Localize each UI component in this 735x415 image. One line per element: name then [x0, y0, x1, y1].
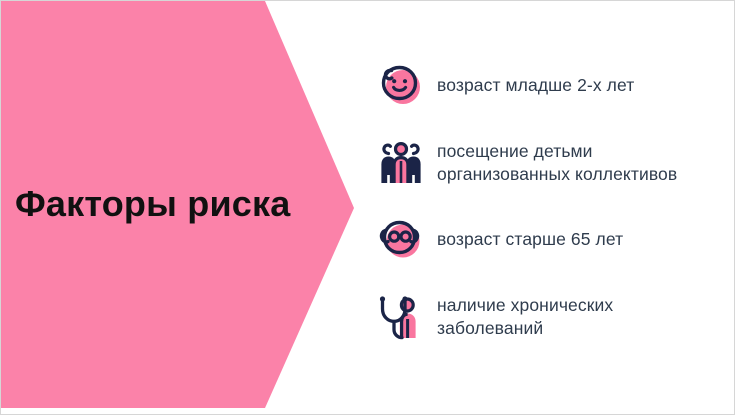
page-title: Факторы риска [15, 182, 345, 226]
list-item-label: посещение детьми организованных коллекти… [437, 140, 722, 186]
stethoscope-patient-icon [377, 291, 425, 343]
elderly-face-glasses-icon [377, 213, 425, 265]
slide-canvas: Факторы риска возраст младше 2-х лет [0, 0, 735, 415]
risk-factors-list: возраст младше 2-х лет [377, 51, 722, 343]
list-item-label: наличие хронических заболеваний [437, 294, 722, 340]
list-item: наличие хронических заболеваний [377, 291, 722, 343]
list-item-label: возраст старше 65 лет [437, 228, 623, 251]
list-item: возраст старше 65 лет [377, 213, 722, 265]
group-of-people-icon [377, 137, 425, 189]
list-item: возраст младше 2-х лет [377, 59, 722, 111]
list-item-label: возраст младше 2-х лет [437, 74, 634, 97]
list-item: посещение детьми организованных коллекти… [377, 137, 722, 189]
baby-face-icon [377, 59, 425, 111]
